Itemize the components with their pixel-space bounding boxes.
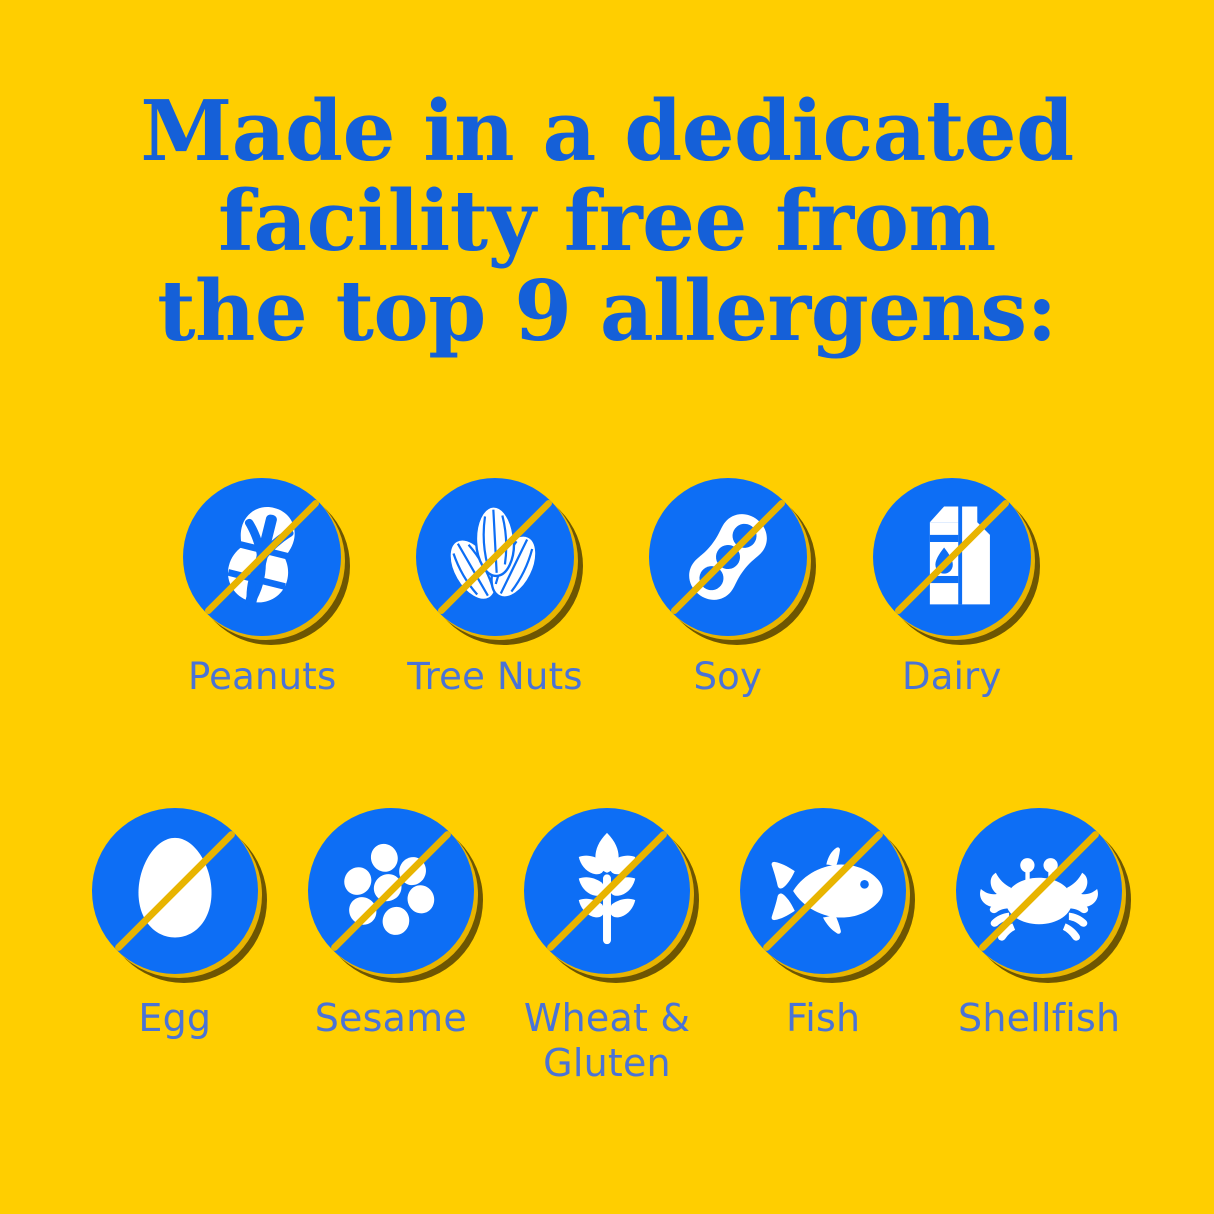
allergen-label: Soy (693, 654, 762, 699)
allergen-disc-fish (740, 808, 906, 974)
allergen-badge-soy: Soy (649, 478, 807, 699)
disc-face (956, 808, 1122, 974)
allergen-disc-peanuts (183, 478, 341, 636)
allergen-row-bottom: Egg (0, 808, 1214, 1086)
egg-icon (92, 808, 258, 974)
page-title-line-3: the top 9 allergens: (0, 266, 1214, 356)
allergen-disc-wheat-gluten (524, 808, 690, 974)
allergen-badge-shellfish: Shellfish (956, 808, 1122, 1041)
allergen-label: Egg (138, 996, 211, 1041)
disc-face (92, 808, 258, 974)
page-title-line-1: Made in a dedicated (0, 86, 1214, 176)
allergen-disc-dairy (873, 478, 1031, 636)
disc-face (416, 478, 574, 636)
disc-face (183, 478, 341, 636)
allergen-badge-dairy: Dairy (873, 478, 1031, 699)
allergen-badge-tree-nuts: Tree Nuts (407, 478, 583, 699)
allergen-label: Wheat & Gluten (524, 996, 690, 1086)
allergen-disc-soy (649, 478, 807, 636)
allergen-label: Shellfish (958, 996, 1120, 1041)
allergen-label: Tree Nuts (407, 654, 583, 699)
milk-carton-icon (873, 478, 1031, 636)
allergen-disc-sesame (308, 808, 474, 974)
allergen-disc-shellfish (956, 808, 1122, 974)
disc-face (308, 808, 474, 974)
allergen-badge-peanuts: Peanuts (183, 478, 341, 699)
page-title: Made in a dedicated facility free from t… (0, 86, 1214, 356)
allergen-disc-tree-nuts (416, 478, 574, 636)
fish-icon (740, 808, 906, 974)
peanut-icon (183, 478, 341, 636)
disc-face (524, 808, 690, 974)
disc-face (740, 808, 906, 974)
page-title-line-2: facility free from (0, 176, 1214, 266)
soybean-pod-icon (649, 478, 807, 636)
allergen-label: Peanuts (188, 654, 337, 699)
crab-icon (956, 808, 1122, 974)
allergen-badge-egg: Egg (92, 808, 258, 1041)
allergen-label: Sesame (315, 996, 467, 1041)
allergen-label: Fish (786, 996, 860, 1041)
allergen-disc-egg (92, 808, 258, 974)
allergen-badge-sesame: Sesame (308, 808, 474, 1041)
allergen-badge-wheat-gluten: Wheat & Gluten (524, 808, 690, 1086)
allergen-free-graphic: Made in a dedicated facility free from t… (0, 0, 1214, 1214)
sesame-seeds-icon (308, 808, 474, 974)
wheat-stalk-icon (524, 808, 690, 974)
allergen-label: Dairy (902, 654, 1002, 699)
allergen-badge-fish: Fish (740, 808, 906, 1041)
disc-face (649, 478, 807, 636)
almond-icon (416, 478, 574, 636)
allergen-row-top: Peanuts (0, 478, 1214, 699)
disc-face (873, 478, 1031, 636)
